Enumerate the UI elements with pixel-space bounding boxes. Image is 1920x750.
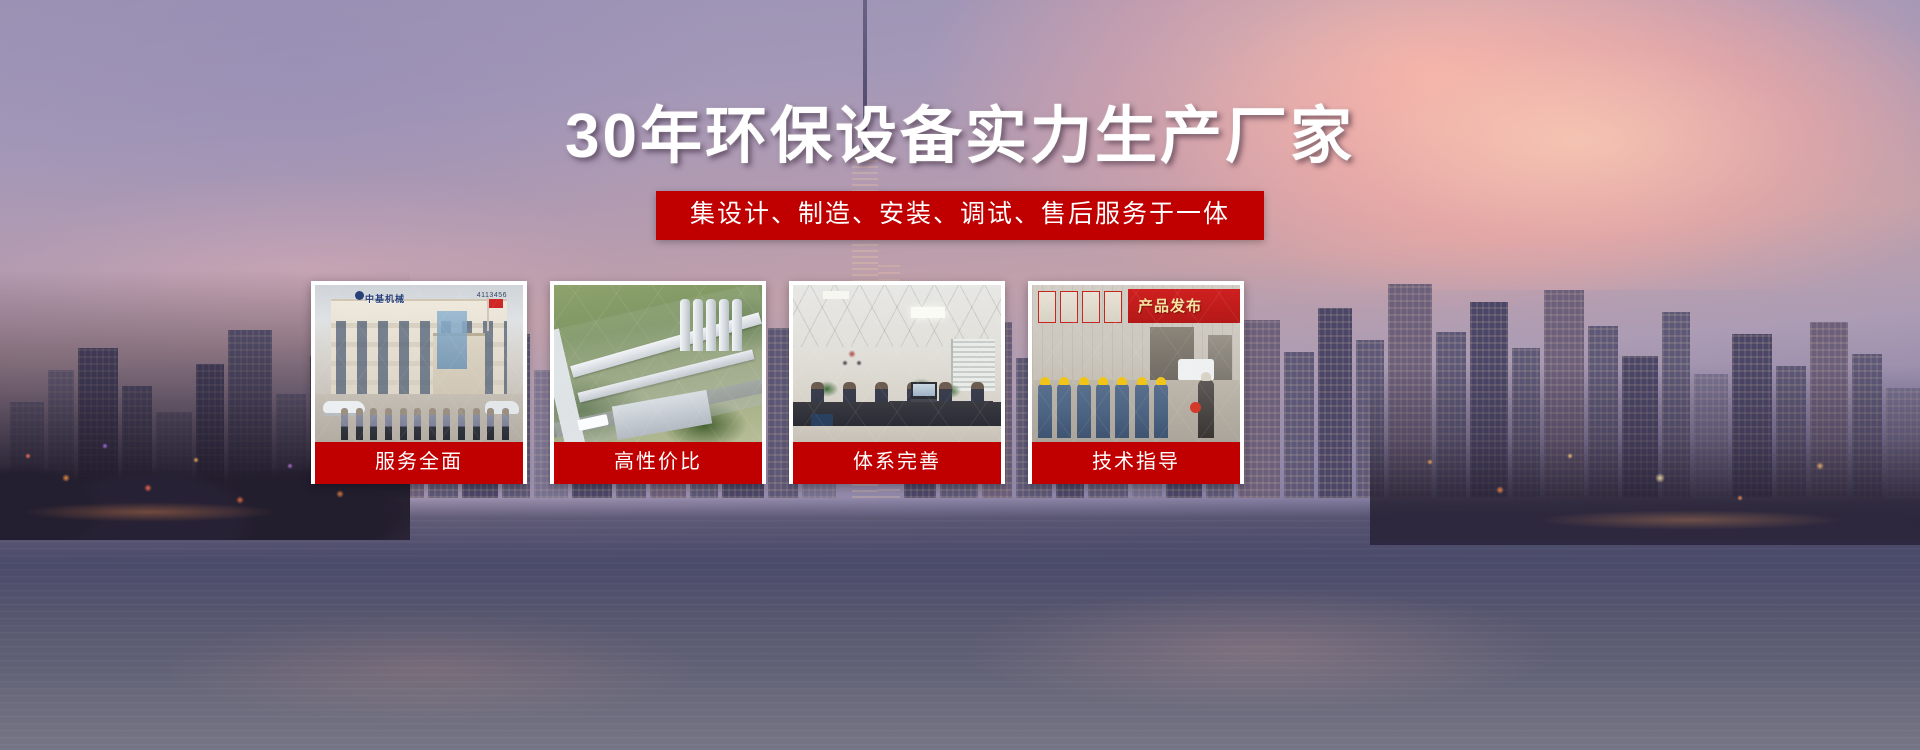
card-photo-production-plant xyxy=(554,285,762,442)
feature-card-guidance[interactable]: 产品发布 技术指导 xyxy=(1028,281,1244,484)
water-reflections xyxy=(0,520,1920,750)
company-logo-icon xyxy=(355,291,364,300)
subtitle-row: 集设计、制造、安装、调试、售后服务于一体 xyxy=(0,191,1920,240)
worker-row xyxy=(1038,376,1168,438)
wall-emblem-icon xyxy=(839,347,865,369)
building-sign-text: 中基机械 xyxy=(365,292,405,305)
factory-wall-banner-text: 产品发布 xyxy=(1138,295,1202,316)
staff-row xyxy=(341,404,509,440)
card-photo-factory-briefing: 产品发布 xyxy=(1032,285,1240,442)
card-label: 体系完善 xyxy=(793,442,1001,484)
card-photo-company-building: 中基机械 4113456 xyxy=(315,285,523,442)
page-title: 30年环保设备实力生产厂家 xyxy=(0,104,1920,169)
card-label: 高性价比 xyxy=(554,442,762,484)
feature-card-system[interactable]: 体系完善 xyxy=(789,281,1005,484)
subtitle-badge: 集设计、制造、安装、调试、售后服务于一体 xyxy=(656,191,1264,240)
right-riverbank-lights xyxy=(1360,432,1920,542)
card-photo-office-interior xyxy=(793,285,1001,442)
hero-banner: 30年环保设备实力生产厂家 集设计、制造、安装、调试、售后服务于一体 中基机械 … xyxy=(0,0,1920,750)
feature-card-row: 中基机械 4113456 服务全面 xyxy=(311,281,1244,484)
supervisor-figure xyxy=(1198,380,1214,438)
card-label: 技术指导 xyxy=(1032,442,1240,484)
card-label: 服务全面 xyxy=(315,442,523,484)
feature-card-value[interactable]: 高性价比 xyxy=(550,281,766,484)
feature-card-service[interactable]: 中基机械 4113456 服务全面 xyxy=(311,281,527,484)
building-phone-text: 4113456 xyxy=(477,292,507,299)
factory-wall-banner: 产品发布 xyxy=(1128,289,1240,323)
monitor-icon xyxy=(911,382,937,402)
